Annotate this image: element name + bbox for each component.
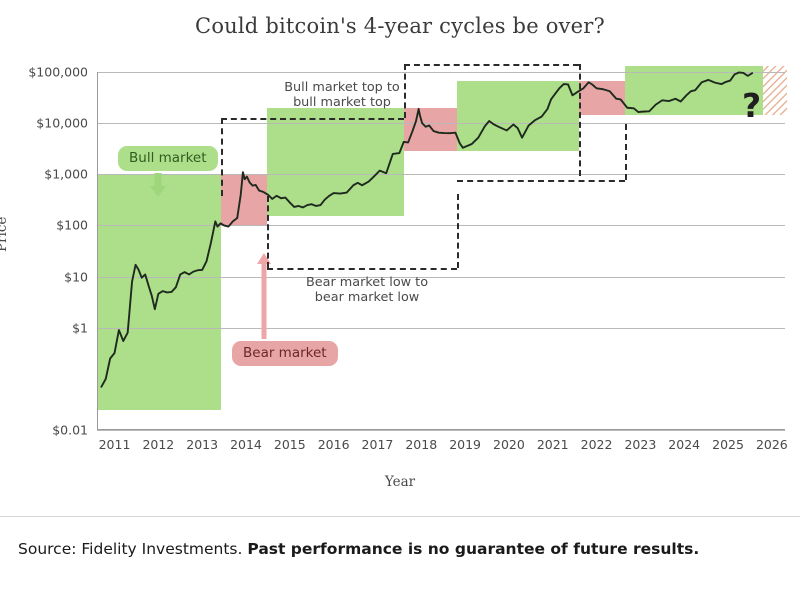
y-tick-0: $100,000 (4, 65, 88, 80)
x-tick-13: 2024 (668, 437, 700, 452)
y-tick-1: $10,000 (4, 116, 88, 131)
bull-bracket-1-left (221, 118, 223, 196)
x-tick-11: 2022 (581, 437, 613, 452)
plot-axes-frame (97, 72, 785, 430)
bull-bracket-2-right (579, 64, 581, 176)
y-tick-5: $1 (4, 320, 88, 335)
y-tick-3: $100 (4, 218, 88, 233)
bear-market-callout: Bear market (232, 341, 338, 366)
question-mark-annotation: ? (742, 86, 761, 125)
x-axis-title: Year (0, 474, 800, 490)
bear-bracket-1-bottom (267, 268, 457, 270)
x-tick-1: 2012 (142, 437, 174, 452)
x-tick-8: 2019 (449, 437, 481, 452)
x-tick-7: 2018 (405, 437, 437, 452)
y-tick-4: $10 (4, 269, 88, 284)
x-tick-15: 2026 (756, 437, 788, 452)
x-tick-14: 2025 (712, 437, 744, 452)
bull-market-callout: Bull market (118, 146, 218, 171)
x-tick-10: 2021 (537, 437, 569, 452)
bear-bracket-2-right (625, 124, 627, 180)
x-tick-4: 2015 (274, 437, 306, 452)
y-tick-6: $0.01 (4, 423, 88, 438)
x-tick-2: 2013 (186, 437, 218, 452)
bull-bracket-1-right (404, 64, 406, 118)
bear-bracket-1-left (267, 196, 269, 268)
y-axis-title: Price (0, 217, 10, 252)
bull-bracket-2-top (404, 64, 579, 66)
bear-bracket-2-bottom (457, 180, 625, 182)
bear-bracket-1-right (457, 194, 459, 268)
x-tick-9: 2020 (493, 437, 525, 452)
gridline-6 (97, 430, 785, 431)
bear-market-arrow-icon (256, 253, 272, 339)
bear-low-annotation: Bear market low to bear market low (272, 275, 462, 305)
footer-divider (0, 516, 800, 517)
source-text: Source: Fidelity Investments. (18, 540, 247, 558)
x-tick-3: 2014 (230, 437, 262, 452)
disclaimer-text: Past performance is no guarantee of futu… (247, 540, 699, 558)
x-tick-0: 2011 (99, 437, 131, 452)
x-tick-5: 2016 (318, 437, 350, 452)
x-tick-12: 2023 (624, 437, 656, 452)
y-tick-2: $1,000 (4, 167, 88, 182)
x-tick-6: 2017 (362, 437, 394, 452)
bull-bracket-1-top (221, 118, 404, 120)
page-title: Could bitcoin's 4-year cycles be over? (0, 14, 800, 38)
chart-page: Could bitcoin's 4-year cycles be over? $… (0, 0, 800, 592)
bull-market-arrow-icon (149, 173, 167, 197)
source-note: Source: Fidelity Investments. Past perfo… (18, 540, 699, 558)
